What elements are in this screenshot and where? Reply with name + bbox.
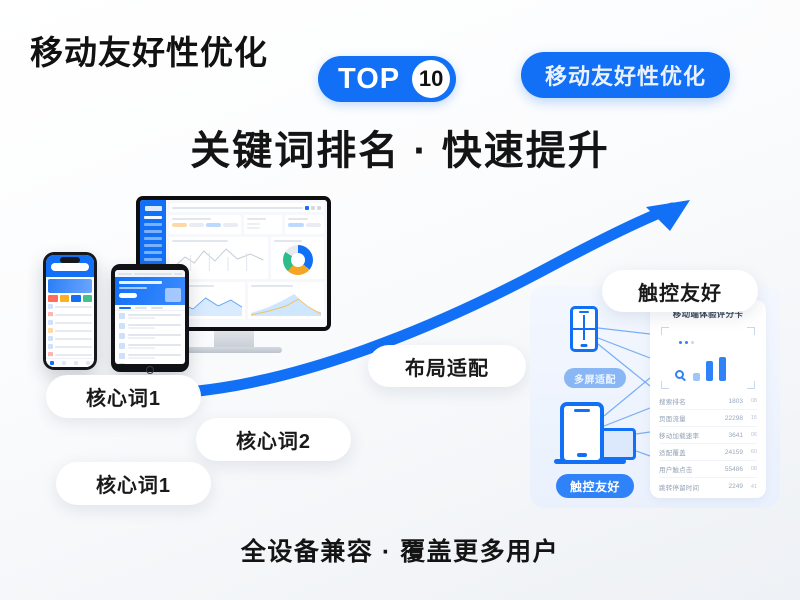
blue-chip-label: 移动友好性优化 <box>521 52 730 98</box>
row-delta: 08 <box>743 398 757 404</box>
phone-tab-bar <box>46 358 94 367</box>
multi-screen-pill[interactable]: 多屏适配 <box>564 368 626 388</box>
tablet-hero-banner <box>115 277 185 305</box>
row-name: 页面流量 <box>659 413 719 423</box>
row-delta: 60 <box>743 449 757 455</box>
row-value: 24159 <box>719 449 743 456</box>
device-mockup-group <box>28 196 328 376</box>
row-name: 移动加载速率 <box>659 430 719 440</box>
mobile-score-card: 移动端体验评分卡 搜索排名 1803 08 页 <box>650 300 766 498</box>
row-name: 适配覆盖 <box>659 447 719 457</box>
table-row: 用户触点击 55486 08 <box>659 461 757 478</box>
small-phone-icon <box>570 306 598 352</box>
page-title: 关键词排名 · 快速提升 <box>0 118 800 176</box>
table-row: 搜索排名 1803 08 <box>659 393 757 410</box>
touch-friendly-panel: 多屏适配 触控友好 移动端体验评分卡 <box>530 286 780 508</box>
table-row: 跳转停留时间 2249 41 <box>659 478 757 495</box>
phone-quick-icons <box>46 295 94 304</box>
row-value: 22298 <box>719 415 743 422</box>
dashboard-logo-icon <box>145 206 162 211</box>
poster-canvas: 移动友好性优化 TOP 10 移动友好性优化 关键词排名 · 快速提升 <box>0 0 800 600</box>
top-badge-word: TOP <box>338 63 400 96</box>
row-value: 3641 <box>719 432 743 439</box>
tablet-home-button <box>146 366 154 374</box>
top-badge-number: 10 <box>412 60 450 98</box>
layout-adapt-pill[interactable]: 布局适配 <box>368 345 526 387</box>
large-phone-icon <box>560 402 604 464</box>
row-delta: 08 <box>743 466 757 472</box>
row-value: 55486 <box>719 466 743 473</box>
row-value: 2249 <box>719 483 743 490</box>
row-name: 搜索排名 <box>659 396 719 406</box>
table-row: 页面流量 22298 15 <box>659 410 757 427</box>
area-chart-thumbnail-2 <box>248 282 324 319</box>
phone-search-bar <box>51 263 89 271</box>
footer-tagline: 全设备兼容 · 覆盖更多用户 <box>0 532 800 568</box>
eyebrow-title: 移动友好性优化 <box>30 26 268 74</box>
monitor-neck <box>214 331 254 347</box>
keyword-pill-3[interactable]: 核心词1 <box>56 462 211 505</box>
top-rank-badge: TOP 10 <box>318 56 456 102</box>
touch-friendly-pill[interactable]: 触控友好 <box>556 474 634 498</box>
row-value: 1803 <box>719 398 743 405</box>
score-bar-chart <box>661 327 755 389</box>
keyword-pill-2[interactable]: 核心词2 <box>196 418 351 461</box>
touch-friendly-heading: 触控友好 <box>602 270 758 312</box>
row-delta: 06 <box>743 432 757 438</box>
device-diagram: 多屏适配 触控友好 <box>548 306 658 496</box>
table-row: 移动加载速率 3641 06 <box>659 427 757 444</box>
row-delta: 15 <box>743 415 757 421</box>
tablet-list <box>115 311 185 364</box>
keyword-pill-1[interactable]: 核心词1 <box>46 375 201 418</box>
phone-notch <box>60 257 80 263</box>
phone-list <box>46 304 94 365</box>
tablet-mockup <box>111 264 189 372</box>
table-row: 适配覆盖 24159 60 <box>659 444 757 461</box>
dashboard-content <box>166 200 327 327</box>
phone-banner <box>48 279 92 293</box>
monitor-base <box>186 347 282 353</box>
donut-chart-thumbnail <box>271 237 324 279</box>
row-delta: 41 <box>743 484 757 490</box>
score-row-list: 搜索排名 1803 08 页面流量 22298 15 移动加载速率 3641 0… <box>659 393 757 495</box>
phone-mockup <box>43 252 97 370</box>
row-name: 跳转停留时间 <box>659 482 719 492</box>
row-name: 用户触点击 <box>659 464 719 474</box>
